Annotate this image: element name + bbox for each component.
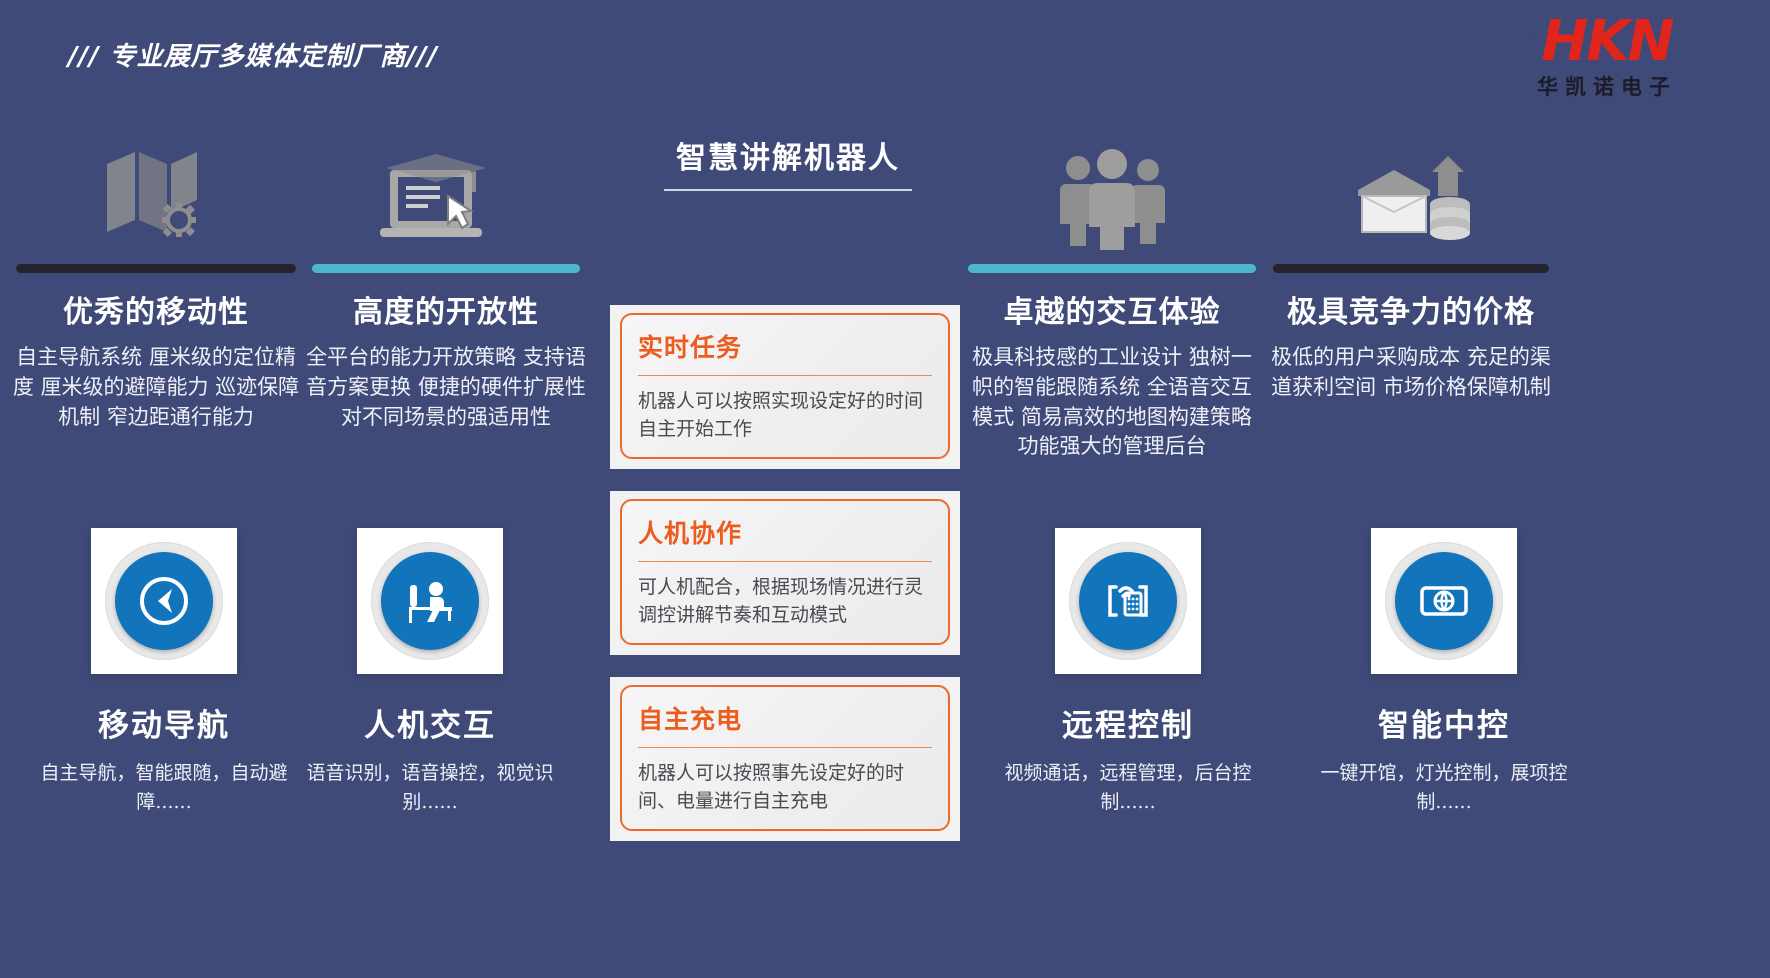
title-underline — [664, 189, 912, 191]
icon-disc — [1385, 542, 1503, 660]
icon-disc — [105, 542, 223, 660]
slide-canvas: /// 专业展厅多媒体定制厂商/// HKN ★ 华凯诺电子 智慧讲解机器人 — [0, 0, 1770, 978]
map-gear-icon — [8, 138, 304, 250]
icon-block-body: 视频通话，远程管理，后台控制...... — [978, 759, 1278, 818]
navigation-play-circle-icon — [115, 552, 213, 650]
card-auto-charging: 自主充电 机器人可以按照事先设定好的时间、电量进行自主充电 — [610, 677, 960, 841]
feature-column-interaction: 卓越的交互体验 极具科技感的工业设计 独树一帜的智能跟随系统 全语音交互模式 简… — [962, 138, 1262, 462]
feature-column-openness: 高度的开放性 全平台的能力开放策略 支持语音方案更换 便捷的硬件扩展性 对不同场… — [304, 138, 588, 432]
icon-block-navigation[interactable]: 移动导航 自主导航，智能跟随，自动避障...... — [14, 528, 314, 818]
icon-block-title: 移动导航 — [14, 700, 314, 745]
feature-divider-bar — [312, 264, 580, 273]
feature-body: 极具科技感的工业设计 独树一帜的智能跟随系统 全语音交互模式 简易高效的地图构建… — [962, 343, 1262, 462]
icon-tile — [91, 528, 237, 674]
icon-block-body: 语音识别，语音操控，视觉识别...... — [280, 759, 580, 818]
icon-block-body: 自主导航，智能跟随，自动避障...... — [14, 759, 314, 818]
icon-block-remote[interactable]: 远程控制 视频通话，远程管理，后台控制...... — [978, 528, 1278, 818]
icon-block-title: 人机交互 — [280, 700, 580, 745]
remote-mobile-signal-icon — [1079, 552, 1177, 650]
icon-disc — [371, 542, 489, 660]
icon-tile — [1371, 528, 1517, 674]
feature-divider-bar — [16, 264, 296, 273]
icon-block-title: 远程控制 — [978, 700, 1278, 745]
card-title: 自主充电 — [638, 700, 932, 736]
card-inner: 实时任务 机器人可以按照实现设定好的时间自主开始工作 — [620, 313, 950, 459]
feature-body: 极低的用户采购成本 充足的渠道获利空间 市场价格保障机制 — [1266, 343, 1556, 403]
logo-subtitle: 华凯诺电子 — [1492, 71, 1722, 101]
card-body: 可人机配合，根据现场情况进行灵调控讲解节奏和互动模式 — [638, 574, 932, 629]
house-coins-icon — [1266, 138, 1556, 250]
feature-column-mobility: 优秀的移动性 自主导航系统 厘米级的定位精度 厘米级的避障能力 巡迹保障机制 窄… — [8, 138, 304, 432]
icon-tile — [357, 528, 503, 674]
card-realtime-task: 实时任务 机器人可以按照实现设定好的时间自主开始工作 — [610, 305, 960, 469]
card-inner: 人机协作 可人机配合，根据现场情况进行灵调控讲解节奏和互动模式 — [620, 499, 950, 645]
laptop-graduation-cap-icon — [304, 138, 588, 250]
globe-card-icon — [1395, 552, 1493, 650]
card-divider — [638, 561, 932, 562]
icon-block-title: 智能中控 — [1294, 700, 1594, 745]
icon-block-hmi[interactable]: 人机交互 语音识别，语音操控，视觉识别...... — [280, 528, 580, 818]
header-bar: /// 专业展厅多媒体定制厂商/// HKN ★ 华凯诺电子 — [0, 0, 1770, 112]
feature-divider-bar — [968, 264, 1256, 273]
card-divider — [638, 747, 932, 748]
feature-column-price: 极具竞争力的价格 极低的用户采购成本 充足的渠道获利空间 市场价格保障机制 — [1266, 138, 1556, 403]
card-inner: 自主充电 机器人可以按照事先设定好的时间、电量进行自主充电 — [620, 685, 950, 831]
company-logo: HKN ★ 华凯诺电子 — [1492, 14, 1722, 101]
card-divider — [638, 375, 932, 376]
header-slogan: /// 专业展厅多媒体定制厂商/// — [68, 36, 438, 73]
feature-title: 卓越的交互体验 — [962, 287, 1262, 331]
feature-body: 自主导航系统 厘米级的定位精度 厘米级的避障能力 巡迹保障机制 窄边距通行能力 — [8, 343, 304, 432]
icon-block-body: 一键开馆，灯光控制，展项控制...... — [1294, 759, 1594, 818]
person-at-desk-icon — [381, 552, 479, 650]
people-group-icon — [962, 138, 1262, 250]
card-body: 机器人可以按照实现设定好的时间自主开始工作 — [638, 388, 932, 443]
star-icon: ★ — [1520, 30, 1541, 56]
feature-title: 极具竞争力的价格 — [1266, 287, 1556, 331]
card-title: 实时任务 — [638, 328, 932, 364]
icon-disc — [1069, 542, 1187, 660]
logo-wordmark: HKN ★ — [1492, 14, 1722, 70]
card-title: 人机协作 — [638, 514, 932, 550]
card-human-machine-collab: 人机协作 可人机配合，根据现场情况进行灵调控讲解节奏和互动模式 — [610, 491, 960, 655]
logo-mark-text: HKN — [1541, 9, 1672, 74]
icon-tile — [1055, 528, 1201, 674]
icon-block-central-control[interactable]: 智能中控 一键开馆，灯光控制，展项控制...... — [1294, 528, 1594, 818]
feature-divider-bar — [1273, 264, 1549, 273]
feature-card-list: 实时任务 机器人可以按照实现设定好的时间自主开始工作 人机协作 可人机配合，根据… — [610, 305, 960, 863]
page-title: 智慧讲解机器人 — [638, 133, 938, 191]
feature-body: 全平台的能力开放策略 支持语音方案更换 便捷的硬件扩展性 对不同场景的强适用性 — [304, 343, 588, 432]
card-body: 机器人可以按照事先设定好的时间、电量进行自主充电 — [638, 760, 932, 815]
page-title-text: 智慧讲解机器人 — [638, 133, 938, 177]
feature-title: 高度的开放性 — [304, 287, 588, 331]
feature-title: 优秀的移动性 — [8, 287, 304, 331]
